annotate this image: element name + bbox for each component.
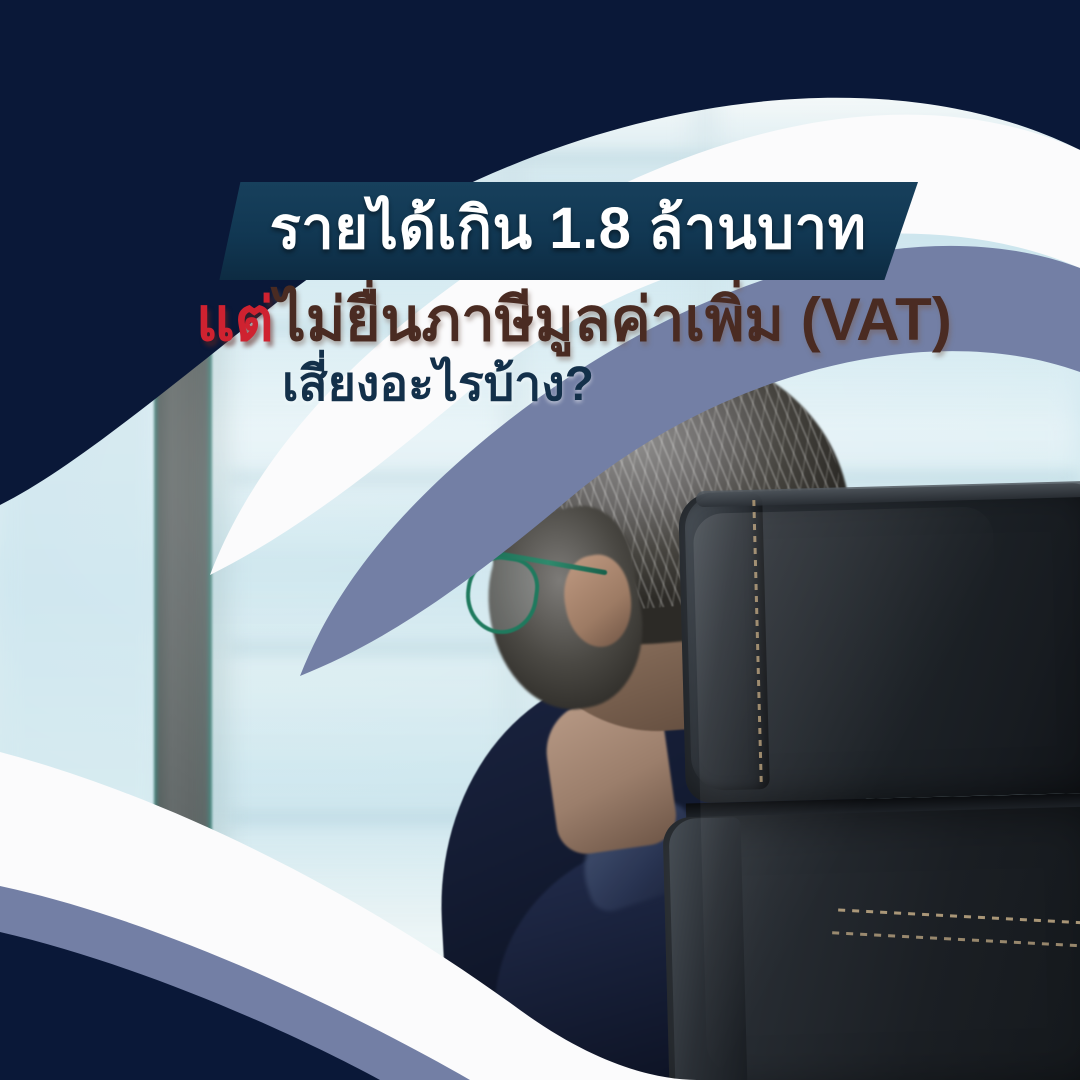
headline-accent-word: แต่ (196, 286, 274, 353)
headline-block: รายได้เกิน 1.8 ล้านบาท แต่ไม่ยื่นภาษีมูล… (0, 182, 1080, 412)
subject-person-and-chair (460, 360, 1080, 1080)
background-photo (0, 0, 1080, 1080)
headline-banner-text: รายได้เกิน 1.8 ล้านบาท (270, 200, 867, 262)
poster-canvas: รายได้เกิน 1.8 ล้านบาท แต่ไม่ยื่นภาษีมูล… (0, 0, 1080, 1080)
headline-banner: รายได้เกิน 1.8 ล้านบาท (218, 182, 918, 280)
headline-line-2-rest: ไม่ยื่นภาษีมูลค่าเพิ่ม (VAT) (276, 286, 952, 353)
headline-line-3: เสี่ยงอะไรบ้าง? (0, 357, 1080, 412)
chair-backrest-bevel (668, 817, 747, 1080)
headline-line-2: แต่ไม่ยื่นภาษีมูลค่าเพิ่ม (VAT) (0, 286, 1080, 353)
